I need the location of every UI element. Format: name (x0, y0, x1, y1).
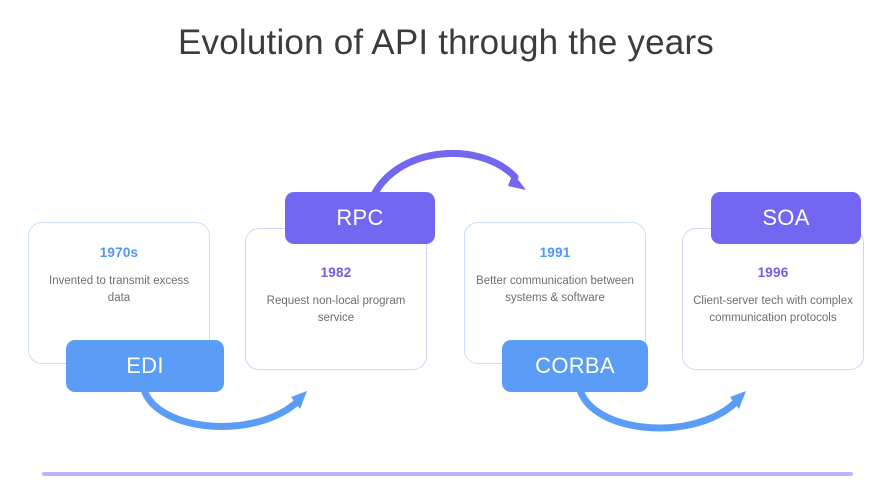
milestone-description-soa: Client-server tech with complex communic… (693, 293, 853, 326)
milestone-label-soa[interactable]: SOA (711, 192, 861, 244)
milestone-year-rpc: 1982 (256, 265, 416, 280)
milestone-label-rpc[interactable]: RPC (285, 192, 435, 244)
milestone-card-soa: 1996 Client-server tech with complex com… (682, 228, 864, 370)
milestone-label-edi[interactable]: EDI (66, 340, 224, 392)
slide-canvas: Evolution of API through the years (0, 0, 892, 496)
milestone-label-text-corba: CORBA (535, 353, 615, 379)
milestone-label-text-rpc: RPC (336, 205, 383, 231)
milestone-description-corba: Better communication between systems & s… (475, 273, 635, 306)
milestone-card-rpc: 1982 Request non-local program service (245, 228, 427, 370)
milestone-label-corba[interactable]: CORBA (502, 340, 648, 392)
milestone-year-soa: 1996 (693, 265, 853, 280)
timeline-diagram: 1970s Invented to transmit excess data E… (0, 0, 892, 496)
bottom-divider (42, 472, 853, 476)
milestone-year-edi: 1970s (39, 245, 199, 260)
milestone-label-text-edi: EDI (126, 353, 164, 379)
milestone-description-rpc: Request non-local program service (256, 293, 416, 326)
milestone-label-text-soa: SOA (762, 205, 809, 231)
milestone-year-corba: 1991 (475, 245, 635, 260)
milestone-description-edi: Invented to transmit excess data (39, 273, 199, 306)
